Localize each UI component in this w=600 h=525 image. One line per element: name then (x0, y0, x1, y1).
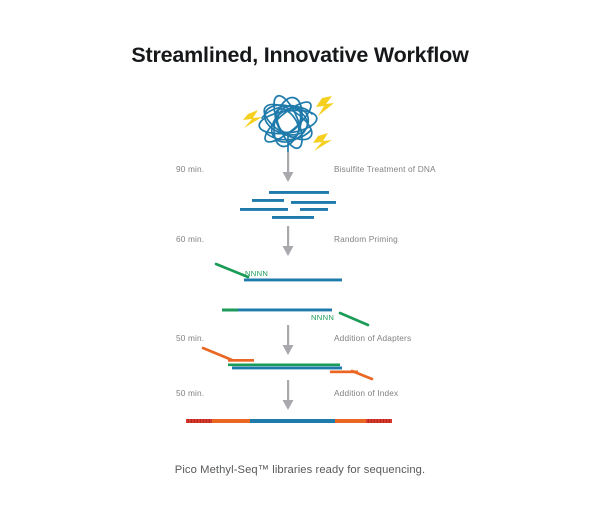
figure-caption: Pico Methyl-Seq™ libraries ready for seq… (0, 464, 600, 476)
final-library-strand (186, 419, 392, 423)
down-arrow-icon (283, 152, 294, 182)
dna-tangle-icon (258, 92, 318, 152)
primed-strand-top (216, 264, 342, 281)
dna-fragments (240, 191, 336, 219)
primed-strand-bottom (222, 309, 368, 326)
workflow-graphics (0, 0, 600, 525)
workflow-figure: Streamlined, Innovative Workflow 90 min.… (0, 0, 600, 525)
down-arrow-icon (283, 325, 294, 355)
down-arrow-icon (283, 226, 294, 256)
down-arrow-icon (283, 380, 294, 410)
